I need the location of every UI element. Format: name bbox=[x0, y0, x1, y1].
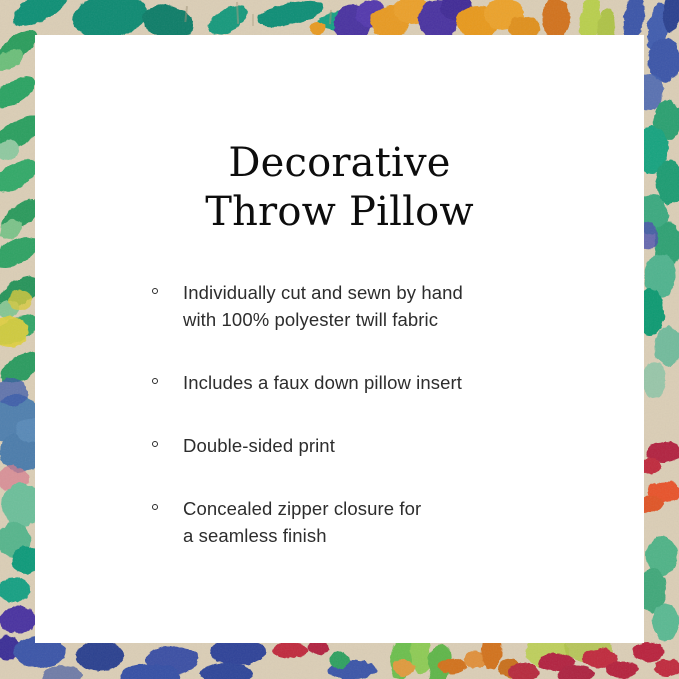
feature-text: Concealed zipper closure for a seamless … bbox=[183, 495, 617, 549]
list-item: Includes a faux down pillow insert bbox=[147, 369, 617, 396]
bullet-circle-icon bbox=[152, 288, 158, 294]
feature-text: Individually cut and sewn by hand with 1… bbox=[183, 279, 617, 333]
title-line-1: Decorative bbox=[35, 139, 644, 188]
page-title: Decorative Throw Pillow bbox=[35, 139, 644, 237]
info-card: Decorative Throw Pillow Individually cut… bbox=[35, 35, 644, 643]
feature-text: Double-sided print bbox=[183, 432, 617, 459]
title-line-2: Throw Pillow bbox=[35, 188, 644, 237]
bullet-circle-icon bbox=[152, 378, 158, 384]
bullet-circle-icon bbox=[152, 504, 158, 510]
list-item: Concealed zipper closure for a seamless … bbox=[147, 495, 617, 549]
list-item: Double-sided print bbox=[147, 432, 617, 459]
bullet-circle-icon bbox=[152, 441, 158, 447]
feature-text: Includes a faux down pillow insert bbox=[183, 369, 617, 396]
list-item: Individually cut and sewn by hand with 1… bbox=[147, 279, 617, 333]
feature-list: Individually cut and sewn by hand with 1… bbox=[147, 279, 617, 549]
product-feature-card-image: Decorative Throw Pillow Individually cut… bbox=[0, 0, 679, 679]
